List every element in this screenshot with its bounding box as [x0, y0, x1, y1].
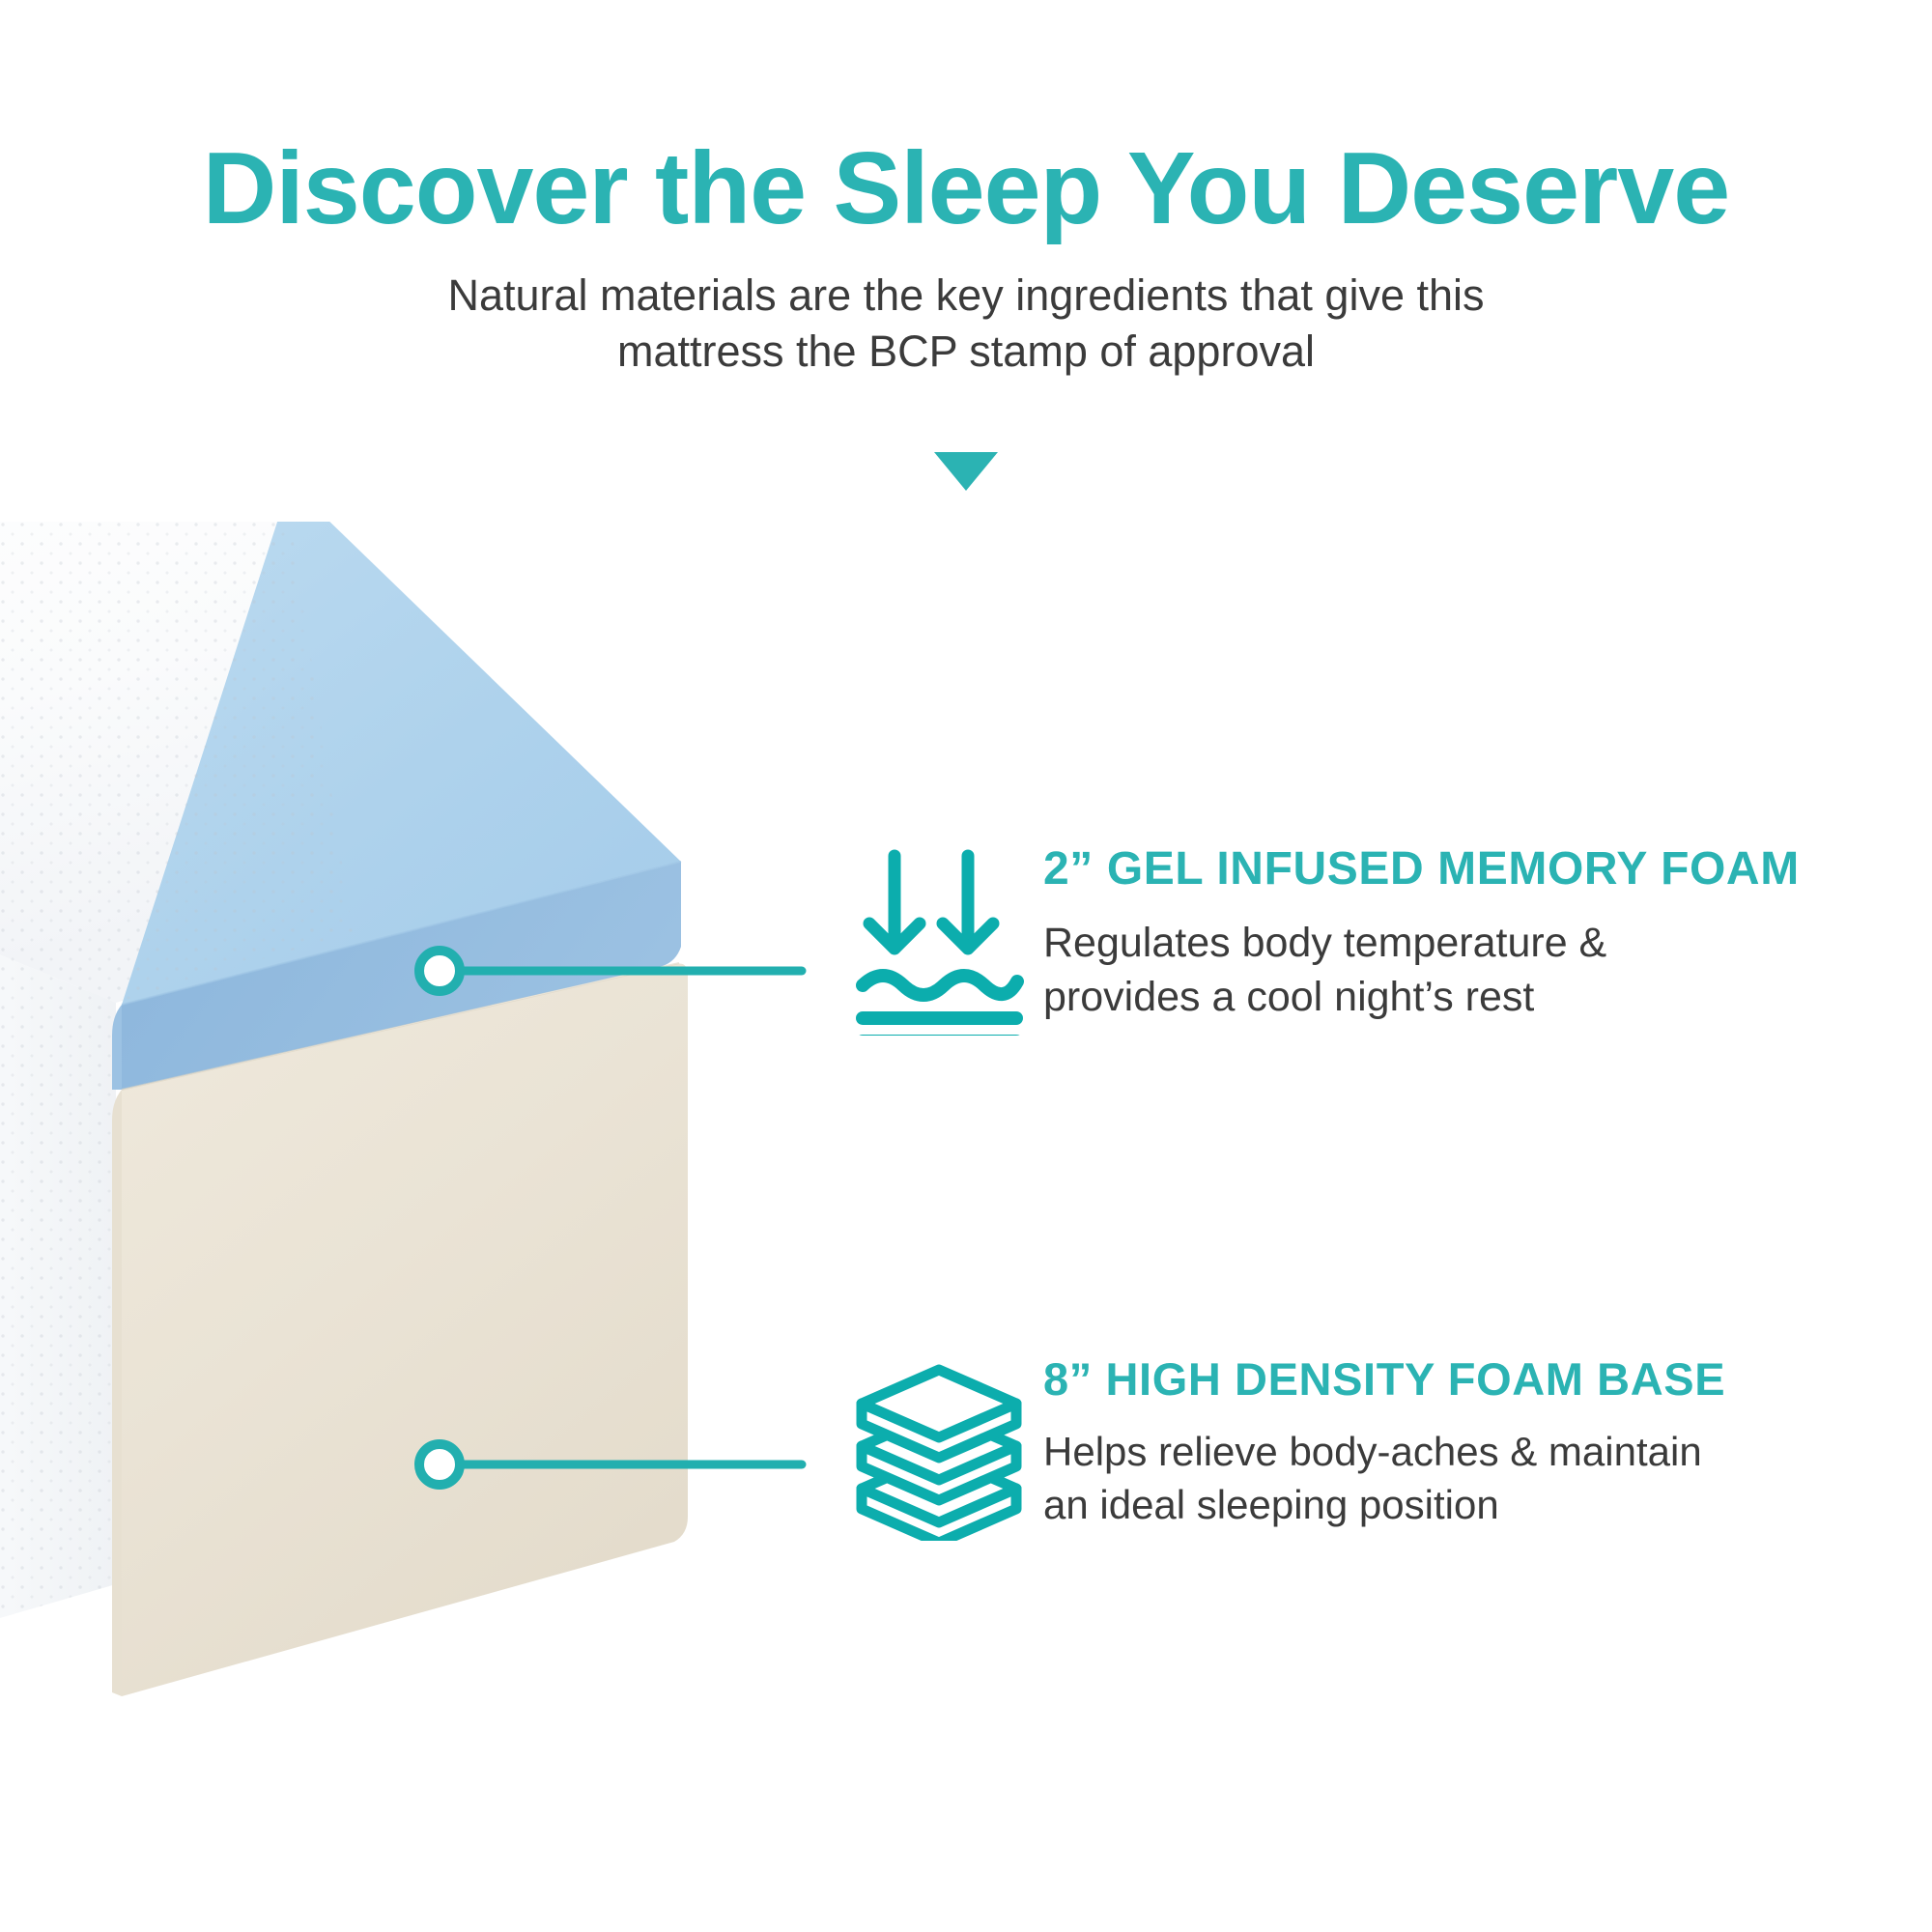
page-subtitle-line-1: Natural materials are the key ingredient… [396, 268, 1536, 324]
feature-gel-text-block: 2” GEL INFUSED MEMORY FOAM Regulates bod… [1043, 842, 1879, 1025]
header-block: Discover the Sleep You Deserve Natural m… [0, 0, 1932, 379]
infographic-page: Discover the Sleep You Deserve Natural m… [0, 0, 1932, 1932]
high-density-base-layer [112, 964, 688, 1697]
page-subtitle-line-2: mattress the BCP stamp of approval [396, 324, 1536, 380]
feature-gel-description-line-1: Regulates body temperature & [1043, 917, 1879, 971]
cooling-waves-arrows-icon [855, 842, 1024, 1036]
feature-gel-description-line-2: provides a cool night’s rest [1043, 971, 1879, 1025]
page-subtitle: Natural materials are the key ingredient… [396, 242, 1536, 379]
mattress-cutaway-illustration [0, 522, 792, 1777]
stacked-layers-icon [855, 1352, 1024, 1541]
feature-base-title: 8” HIGH DENSITY FOAM BASE [1043, 1356, 1879, 1403]
feature-gel-title: 2” GEL INFUSED MEMORY FOAM [1043, 846, 1879, 894]
feature-base-description-line-2: an ideal sleeping position [1043, 1479, 1879, 1532]
feature-gel-infused-memory-foam: 2” GEL INFUSED MEMORY FOAM Regulates bod… [855, 842, 1879, 1036]
feature-high-density-foam-base: 8” HIGH DENSITY FOAM BASE Helps relieve … [855, 1352, 1879, 1541]
page-title: Discover the Sleep You Deserve [0, 0, 1932, 242]
feature-base-description-line-1: Helps relieve body-aches & maintain [1043, 1426, 1879, 1479]
triangle-down-icon [934, 452, 998, 491]
feature-gel-description: Regulates body temperature & provides a … [1043, 894, 1879, 1025]
feature-base-text-block: 8” HIGH DENSITY FOAM BASE Helps relieve … [1043, 1352, 1879, 1531]
feature-base-description: Helps relieve body-aches & maintain an i… [1043, 1403, 1879, 1531]
